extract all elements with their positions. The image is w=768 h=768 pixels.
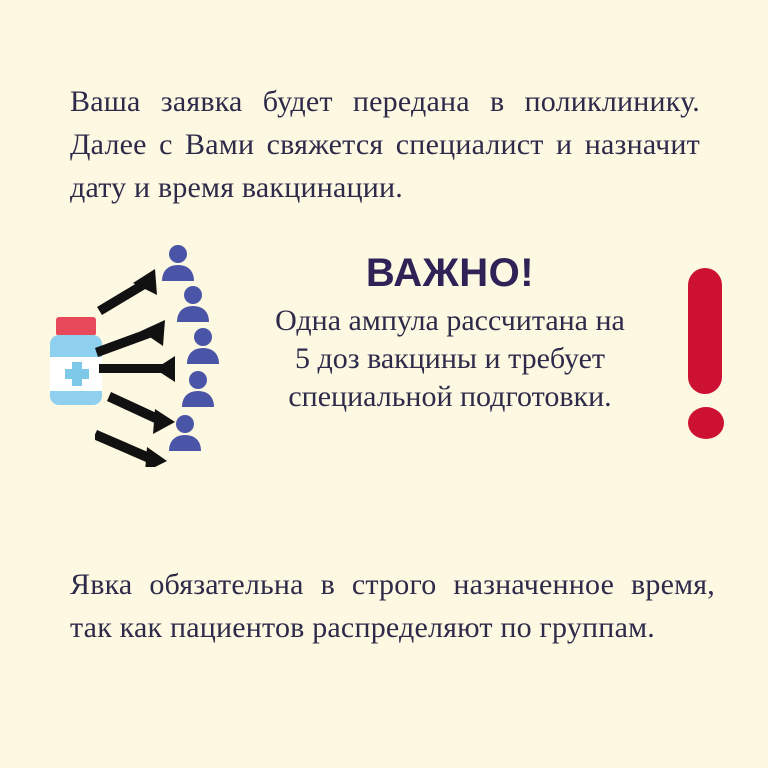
exclamation-bar [688,268,722,394]
callout-line-2: 5 доз вакцины и требует [222,340,678,378]
important-title: ВАЖНО! [222,250,678,296]
exclamation-dot [688,407,724,439]
bottom-paragraph: Явка обязательна в строго назначенное вр… [70,563,715,649]
person-icon [167,414,203,452]
person-icon [160,244,196,282]
person-icon [180,370,216,408]
illustration-band: ВАЖНО! Одна ампула рассчитана на 5 доз в… [0,232,768,482]
callout-line-3: специальной подготовки. [222,378,678,416]
arrow-right-icon [97,269,157,315]
top-paragraph: Ваша заявка будет передана в поликлинику… [70,80,700,209]
callout-line-1: Одна ампула рассчитана на [222,302,678,340]
exclamation-mark-icon [688,268,724,443]
important-callout: ВАЖНО! Одна ампула рассчитана на 5 доз в… [222,250,678,416]
poster-canvas: Ваша заявка будет передана в поликлинику… [0,0,768,768]
person-icon [185,327,221,365]
people-group [155,242,225,477]
person-icon [175,285,211,323]
